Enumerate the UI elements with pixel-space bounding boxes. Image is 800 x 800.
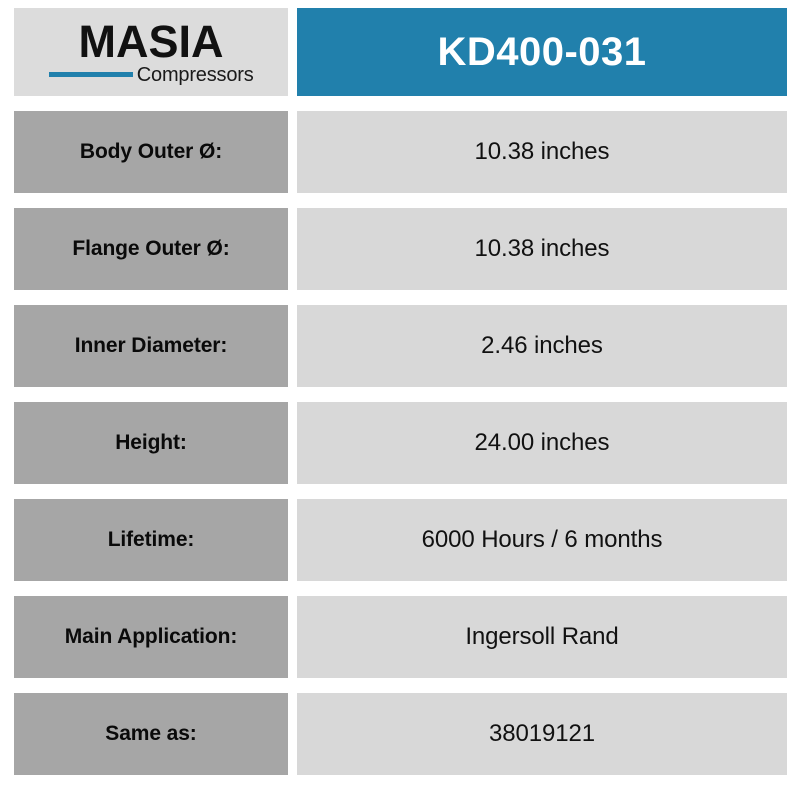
spec-row: Body Outer Ø: 10.38 inches — [14, 111, 787, 193]
spec-label: Main Application: — [65, 625, 238, 649]
spec-row: Same as: 38019121 — [14, 693, 787, 775]
spec-value: 2.46 inches — [481, 332, 603, 360]
sheet-header: MASIA Compressors KD400-031 — [14, 8, 787, 96]
brand-subtitle-group: Compressors — [49, 65, 254, 85]
spec-label: Flange Outer Ø: — [72, 237, 229, 261]
brand-wordmark: MASIA — [79, 21, 224, 64]
spec-value: 10.38 inches — [475, 235, 610, 263]
spec-row: Lifetime: 6000 Hours / 6 months — [14, 499, 787, 581]
spec-value-cell: 6000 Hours / 6 months — [297, 499, 787, 581]
brand-logo: MASIA Compressors — [14, 8, 288, 96]
spec-value-cell: Ingersoll Rand — [297, 596, 787, 678]
brand-rule-icon — [49, 72, 133, 77]
spec-value: 24.00 inches — [475, 429, 610, 457]
spec-value-cell: 10.38 inches — [297, 208, 787, 290]
spec-label-cell: Flange Outer Ø: — [14, 208, 288, 290]
spec-label-cell: Inner Diameter: — [14, 305, 288, 387]
spec-value: 6000 Hours / 6 months — [422, 526, 663, 554]
brand-subtitle: Compressors — [137, 65, 254, 85]
spec-label-cell: Body Outer Ø: — [14, 111, 288, 193]
spec-row: Main Application: Ingersoll Rand — [14, 596, 787, 678]
spec-label: Body Outer Ø: — [80, 140, 222, 164]
spec-value: 38019121 — [489, 720, 595, 748]
spec-label: Lifetime: — [108, 528, 195, 552]
product-spec-sheet: MASIA Compressors KD400-031 Body Outer Ø… — [0, 0, 800, 800]
spec-value-cell: 24.00 inches — [297, 402, 787, 484]
spec-row: Inner Diameter: 2.46 inches — [14, 305, 787, 387]
spec-label: Same as: — [105, 722, 196, 746]
spec-label-cell: Height: — [14, 402, 288, 484]
model-title: KD400-031 — [437, 30, 646, 75]
spec-row: Height: 24.00 inches — [14, 402, 787, 484]
spec-row: Flange Outer Ø: 10.38 inches — [14, 208, 787, 290]
spec-label-cell: Same as: — [14, 693, 288, 775]
spec-label: Height: — [115, 431, 187, 455]
spec-label: Inner Diameter: — [75, 334, 228, 358]
spec-value-cell: 10.38 inches — [297, 111, 787, 193]
spec-label-cell: Main Application: — [14, 596, 288, 678]
spec-value-cell: 38019121 — [297, 693, 787, 775]
model-title-banner: KD400-031 — [297, 8, 787, 96]
spec-value-cell: 2.46 inches — [297, 305, 787, 387]
spec-value: 10.38 inches — [475, 138, 610, 166]
spec-label-cell: Lifetime: — [14, 499, 288, 581]
spec-value: Ingersoll Rand — [465, 623, 618, 651]
